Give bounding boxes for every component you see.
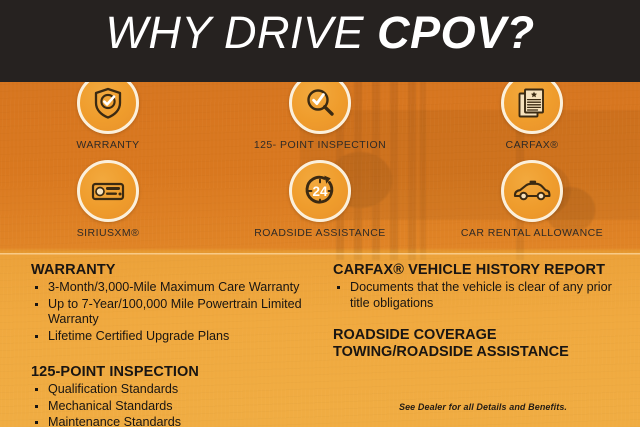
svg-text:24: 24: [312, 184, 328, 199]
benefit-label: 125- POINT INSPECTION: [254, 139, 386, 151]
benefit-warranty[interactable]: WARRANTY: [24, 72, 192, 151]
details-column-left: WARRANTY 3-Month/3,000-Mile Maximum Care…: [31, 262, 331, 427]
taxi-car-icon: [501, 160, 563, 222]
cpov-infographic: WHY DRIVE CPOV? WARRANTY: [0, 0, 640, 427]
section-divider: [0, 253, 640, 255]
list-item: Mechanical Standards: [31, 399, 331, 415]
benefit-icon-row-1: WARRANTY 125- POINT INSPECTION: [0, 72, 640, 151]
carfax-bullet-list: Documents that the vehicle is clear of a…: [333, 280, 633, 311]
spacer: [333, 312, 633, 327]
benefit-details-panel: WARRANTY 3-Month/3,000-Mile Maximum Care…: [0, 262, 640, 427]
list-item: Qualification Standards: [31, 382, 331, 398]
page-title-light: WHY DRIVE: [105, 7, 364, 58]
roadside-heading: ROADSIDE COVERAGE TOWING/ROADSIDE ASSIST…: [333, 327, 633, 361]
benefit-icon-row-2: SIRIUSXM® 24: [0, 160, 640, 239]
header-band: WHY DRIVE CPOV?: [0, 0, 640, 82]
roadside-heading-line1: ROADSIDE COVERAGE: [333, 327, 633, 344]
disclaimer-text: See Dealer for all Details and Benefits.: [333, 402, 633, 412]
page-title: WHY DRIVE CPOV?: [0, 8, 640, 58]
warranty-bullet-list: 3-Month/3,000-Mile Maximum Care Warranty…: [31, 280, 331, 344]
list-item: Documents that the vehicle is clear of a…: [333, 280, 633, 311]
page-title-bold: CPOV?: [377, 7, 535, 58]
list-item: Lifetime Certified Upgrade Plans: [31, 329, 331, 345]
benefit-siriusxm[interactable]: SIRIUSXM®: [24, 160, 192, 239]
list-item: Maintenance Standards: [31, 415, 331, 427]
inspection-heading: 125-POINT INSPECTION: [31, 364, 331, 380]
benefit-label: WARRANTY: [76, 139, 139, 151]
benefit-car-rental[interactable]: CAR RENTAL ALLOWANCE: [448, 160, 616, 239]
spacer: [31, 345, 331, 364]
list-item: Up to 7-Year/100,000 Mile Powertrain Lim…: [31, 297, 331, 328]
benefit-label: ROADSIDE ASSISTANCE: [254, 227, 385, 239]
benefit-roadside[interactable]: 24 ROADSIDE ASSISTANCE: [236, 160, 404, 239]
benefit-inspection[interactable]: 125- POINT INSPECTION: [236, 72, 404, 151]
inspection-bullet-list: Qualification Standards Mechanical Stand…: [31, 382, 331, 427]
warranty-heading: WARRANTY: [31, 262, 331, 278]
roadside-heading-line2: TOWING/ROADSIDE ASSISTANCE: [333, 344, 633, 361]
benefit-carfax[interactable]: CARFAX®: [448, 72, 616, 151]
benefit-label: CARFAX®: [506, 139, 559, 151]
carfax-heading: CARFAX® VEHICLE HISTORY REPORT: [333, 262, 633, 278]
benefit-label: CAR RENTAL ALLOWANCE: [461, 227, 603, 239]
details-column-right: CARFAX® VEHICLE HISTORY REPORT Documents…: [333, 262, 633, 361]
benefit-label: SIRIUSXM®: [77, 227, 140, 239]
list-item: 3-Month/3,000-Mile Maximum Care Warranty: [31, 280, 331, 296]
clock-24-arrow-icon: 24: [289, 160, 351, 222]
car-stereo-icon: [77, 160, 139, 222]
benefit-icon-grid: WARRANTY 125- POINT INSPECTION: [0, 72, 640, 239]
